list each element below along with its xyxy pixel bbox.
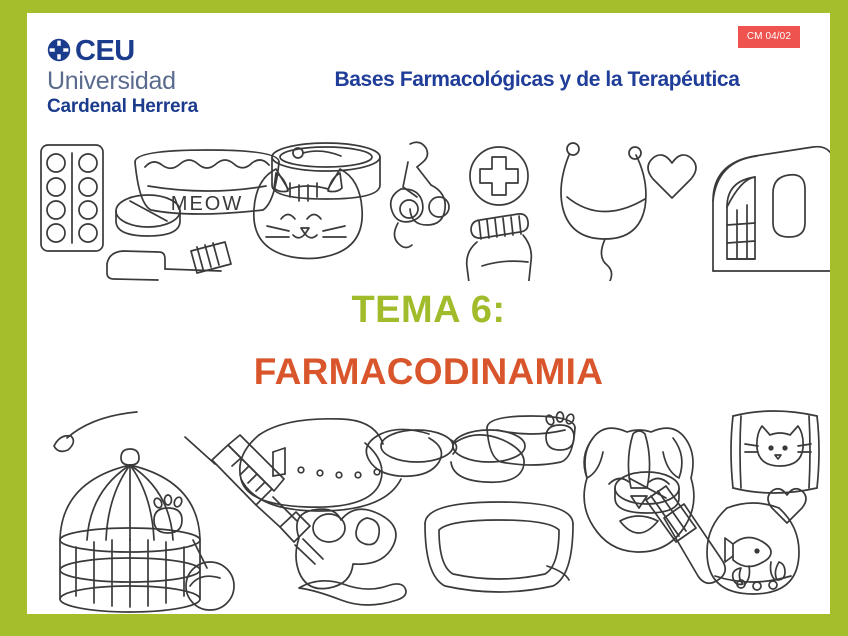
syringe-icon	[185, 435, 323, 564]
slide-root: CEU Universidad Cardenal Herrera Bases F…	[0, 0, 848, 636]
nail-clippers-icon	[391, 142, 449, 247]
medicine-bottle-icon	[467, 214, 532, 281]
topic-subject: FARMACODINAMIA	[27, 353, 830, 392]
ceu-logo: CEU Universidad Cardenal Herrera	[47, 37, 198, 116]
logo-ceu-text: CEU	[75, 37, 135, 66]
pet-bed-icon	[425, 502, 573, 592]
feather-wand-toy-icon	[54, 412, 137, 451]
main-title-block: TEMA 6: FARMACODINAMIA	[27, 291, 830, 392]
heart-icon	[648, 155, 696, 198]
logo-cardenal-herrera-text: Cardenal Herrera	[47, 97, 198, 116]
cat-face-icon	[254, 169, 362, 259]
pet-goggles-icon	[366, 429, 525, 482]
fish-bowl-icon	[707, 503, 799, 594]
pet-carrier-icon	[713, 147, 830, 271]
logo-top-row: CEU	[47, 37, 198, 66]
course-title: Bases Farmacológicas y de la Terapéutica	[267, 68, 807, 92]
water-bowl-icon	[487, 416, 575, 465]
test-tube-icon	[646, 486, 725, 583]
cat-food-bag-icon	[731, 411, 819, 493]
slide-header: CEU Universidad Cardenal Herrera Bases F…	[27, 13, 830, 125]
slide-canvas: CEU Universidad Cardenal Herrera Bases F…	[27, 13, 830, 614]
medical-cross-icon	[470, 147, 528, 205]
top-illustration-band: MEOW	[27, 131, 830, 281]
chew-toy-bone-icon	[296, 509, 406, 605]
pill-blister-pack-icon	[41, 145, 103, 251]
ceu-circle-cross-emblem-icon	[47, 38, 71, 66]
logo-universidad-text: Universidad	[47, 69, 198, 94]
comb-icon	[191, 242, 231, 273]
stethoscope-icon	[561, 143, 646, 281]
status-badge: CM 04/02	[738, 26, 800, 48]
bowl-label: MEOW	[171, 193, 243, 215]
bottom-illustration-band	[27, 400, 830, 614]
litter-scoop-icon	[107, 251, 221, 280]
topic-number: TEMA 6:	[27, 291, 830, 331]
